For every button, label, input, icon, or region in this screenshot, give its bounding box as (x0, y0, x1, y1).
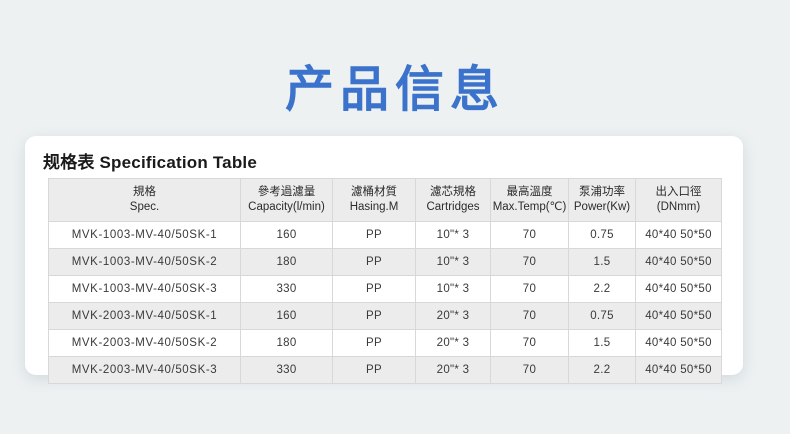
table-row: MVK-2003-MV-40/50SK-2 180 PP 20"* 3 70 1… (49, 330, 722, 357)
cell-power: 1.5 (569, 330, 636, 357)
cell-max-temp: 70 (491, 249, 569, 276)
cell-housing: PP (333, 303, 416, 330)
cell-dn: 40*40 50*50 (636, 276, 722, 303)
cell-spec: MVK-1003-MV-40/50SK-2 (49, 249, 241, 276)
cell-dn: 40*40 50*50 (636, 249, 722, 276)
column-header-spec-cn: 規格 (49, 185, 240, 200)
column-header-cartridges: 濾芯規格 Cartridges (416, 179, 491, 222)
cell-cartridges: 10"* 3 (416, 276, 491, 303)
table-row: MVK-2003-MV-40/50SK-1 160 PP 20"* 3 70 0… (49, 303, 722, 330)
cell-max-temp: 70 (491, 357, 569, 384)
column-header-capacity-cn: 參考過濾量 (241, 185, 332, 200)
cell-housing: PP (333, 276, 416, 303)
cell-dn: 40*40 50*50 (636, 303, 722, 330)
cell-cartridges: 20"* 3 (416, 357, 491, 384)
cell-power: 2.2 (569, 357, 636, 384)
cell-dn: 40*40 50*50 (636, 357, 722, 384)
column-header-dn: 出入口徑 (DNmm) (636, 179, 722, 222)
cell-cartridges: 10"* 3 (416, 249, 491, 276)
cell-spec: MVK-2003-MV-40/50SK-1 (49, 303, 241, 330)
specification-table: 規格 Spec. 參考過濾量 Capacity(l/min) 濾桶材質 Hasi… (48, 178, 722, 384)
cell-spec: MVK-2003-MV-40/50SK-2 (49, 330, 241, 357)
cell-cartridges: 20"* 3 (416, 303, 491, 330)
specification-card: 规格表 Specification Table 規格 Spec. 參考過濾量 (25, 136, 743, 375)
column-header-power-en: Power(Kw) (569, 200, 635, 215)
cell-housing: PP (333, 357, 416, 384)
cell-max-temp: 70 (491, 276, 569, 303)
column-header-max-temp: 最高溫度 Max.Temp(℃) (491, 179, 569, 222)
column-header-dn-cn: 出入口徑 (636, 185, 721, 200)
cell-capacity: 180 (241, 330, 333, 357)
page-title: 产品信息 (0, 59, 790, 121)
cell-capacity: 160 (241, 222, 333, 249)
table-row: MVK-1003-MV-40/50SK-1 160 PP 10"* 3 70 0… (49, 222, 722, 249)
cell-cartridges: 10"* 3 (416, 222, 491, 249)
table-body: MVK-1003-MV-40/50SK-1 160 PP 10"* 3 70 0… (49, 222, 722, 384)
cell-max-temp: 70 (491, 330, 569, 357)
column-header-max-temp-en: Max.Temp(℃) (491, 200, 568, 215)
cell-dn: 40*40 50*50 (636, 330, 722, 357)
cell-housing: PP (333, 330, 416, 357)
column-header-capacity: 參考過濾量 Capacity(l/min) (241, 179, 333, 222)
cell-capacity: 330 (241, 357, 333, 384)
column-header-housing-cn: 濾桶材質 (333, 185, 415, 200)
column-header-cartridges-en: Cartridges (416, 200, 490, 215)
specification-table-wrap: 規格 Spec. 參考過濾量 Capacity(l/min) 濾桶材質 Hasi… (48, 178, 721, 384)
cell-cartridges: 20"* 3 (416, 330, 491, 357)
column-header-spec: 規格 Spec. (49, 179, 241, 222)
cell-capacity: 180 (241, 249, 333, 276)
cell-spec: MVK-1003-MV-40/50SK-3 (49, 276, 241, 303)
cell-dn: 40*40 50*50 (636, 222, 722, 249)
table-header: 規格 Spec. 參考過濾量 Capacity(l/min) 濾桶材質 Hasi… (49, 179, 722, 222)
cell-power: 2.2 (569, 276, 636, 303)
cell-max-temp: 70 (491, 222, 569, 249)
table-header-row: 規格 Spec. 參考過濾量 Capacity(l/min) 濾桶材質 Hasi… (49, 179, 722, 222)
column-header-housing-en: Hasing.M (333, 200, 415, 215)
column-header-spec-en: Spec. (49, 200, 240, 215)
cell-power: 0.75 (569, 303, 636, 330)
column-header-max-temp-cn: 最高溫度 (491, 185, 568, 200)
column-header-power-cn: 泵浦功率 (569, 185, 635, 200)
product-info-page: 产品信息 规格表 Specification Table 規格 Spec. (0, 0, 790, 434)
cell-spec: MVK-1003-MV-40/50SK-1 (49, 222, 241, 249)
column-header-housing: 濾桶材質 Hasing.M (333, 179, 416, 222)
column-header-power: 泵浦功率 Power(Kw) (569, 179, 636, 222)
column-header-dn-en: (DNmm) (636, 200, 721, 215)
cell-capacity: 330 (241, 276, 333, 303)
column-header-cartridges-cn: 濾芯規格 (416, 185, 490, 200)
cell-capacity: 160 (241, 303, 333, 330)
cell-power: 1.5 (569, 249, 636, 276)
column-header-capacity-en: Capacity(l/min) (241, 200, 332, 215)
cell-max-temp: 70 (491, 303, 569, 330)
table-row: MVK-2003-MV-40/50SK-3 330 PP 20"* 3 70 2… (49, 357, 722, 384)
cell-housing: PP (333, 249, 416, 276)
table-row: MVK-1003-MV-40/50SK-3 330 PP 10"* 3 70 2… (49, 276, 722, 303)
cell-housing: PP (333, 222, 416, 249)
cell-spec: MVK-2003-MV-40/50SK-3 (49, 357, 241, 384)
cell-power: 0.75 (569, 222, 636, 249)
table-row: MVK-1003-MV-40/50SK-2 180 PP 10"* 3 70 1… (49, 249, 722, 276)
card-heading: 规格表 Specification Table (43, 148, 257, 173)
